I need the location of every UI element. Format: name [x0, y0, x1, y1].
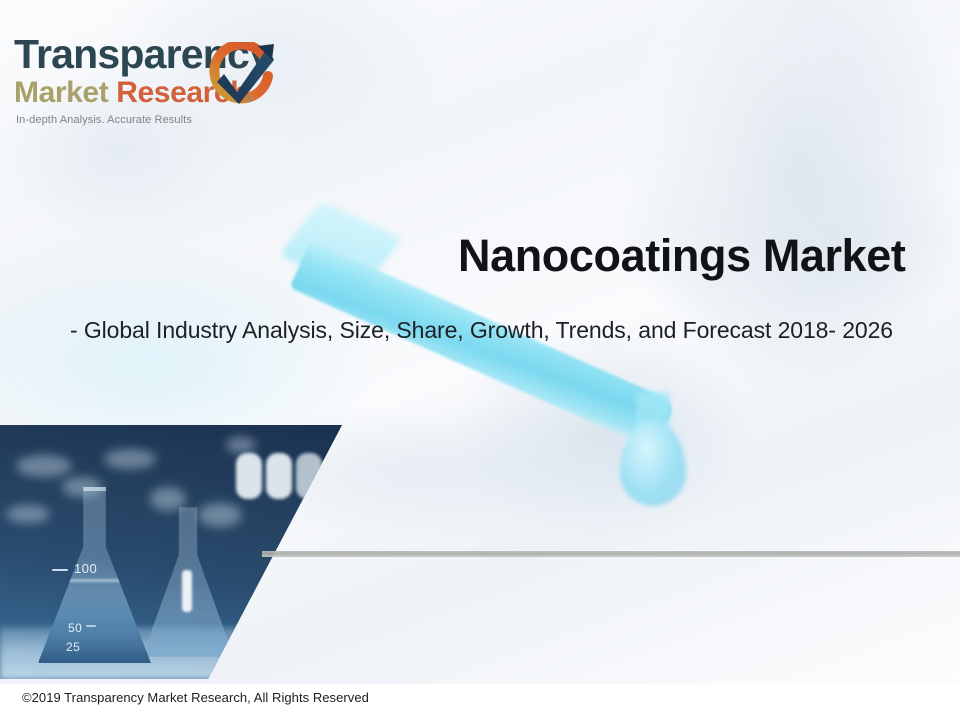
blurred-chalk-shape — [104, 449, 156, 469]
blurred-chalk-shape — [198, 503, 242, 527]
blurred-chalk-shape — [226, 437, 256, 453]
logo-tagline-text: In-depth Analysis. Accurate Results — [16, 114, 192, 126]
page-subtitle: - Global Industry Analysis, Size, Share,… — [70, 317, 950, 345]
horizontal-divider — [262, 551, 960, 557]
graduation-label-50: 50 — [68, 621, 82, 635]
graduation-tick — [86, 625, 96, 627]
slide-canvas: 100 50 25 Transparency Market Research I… — [0, 0, 960, 720]
logo-market-text: Market — [14, 76, 108, 109]
copyright-text: ©2019 Transparency Market Research, All … — [22, 690, 369, 705]
checkmark-swoosh-logo-icon — [202, 42, 280, 108]
graduation-tick — [52, 569, 68, 571]
graduation-label-25: 25 — [66, 640, 80, 654]
test-tube-shape — [266, 453, 292, 499]
blurred-chalk-shape — [6, 505, 50, 523]
brand-logo[interactable]: Transparency Market Research In-depth An… — [10, 26, 280, 130]
page-title: Nanocoatings Market — [458, 232, 906, 279]
blurred-chalk-shape — [16, 455, 72, 477]
registered-trademark-icon: ® — [246, 94, 253, 104]
test-tube-shape — [236, 453, 262, 499]
pipette-droplet-icon — [620, 420, 686, 506]
graduation-label-100: 100 — [74, 561, 97, 576]
